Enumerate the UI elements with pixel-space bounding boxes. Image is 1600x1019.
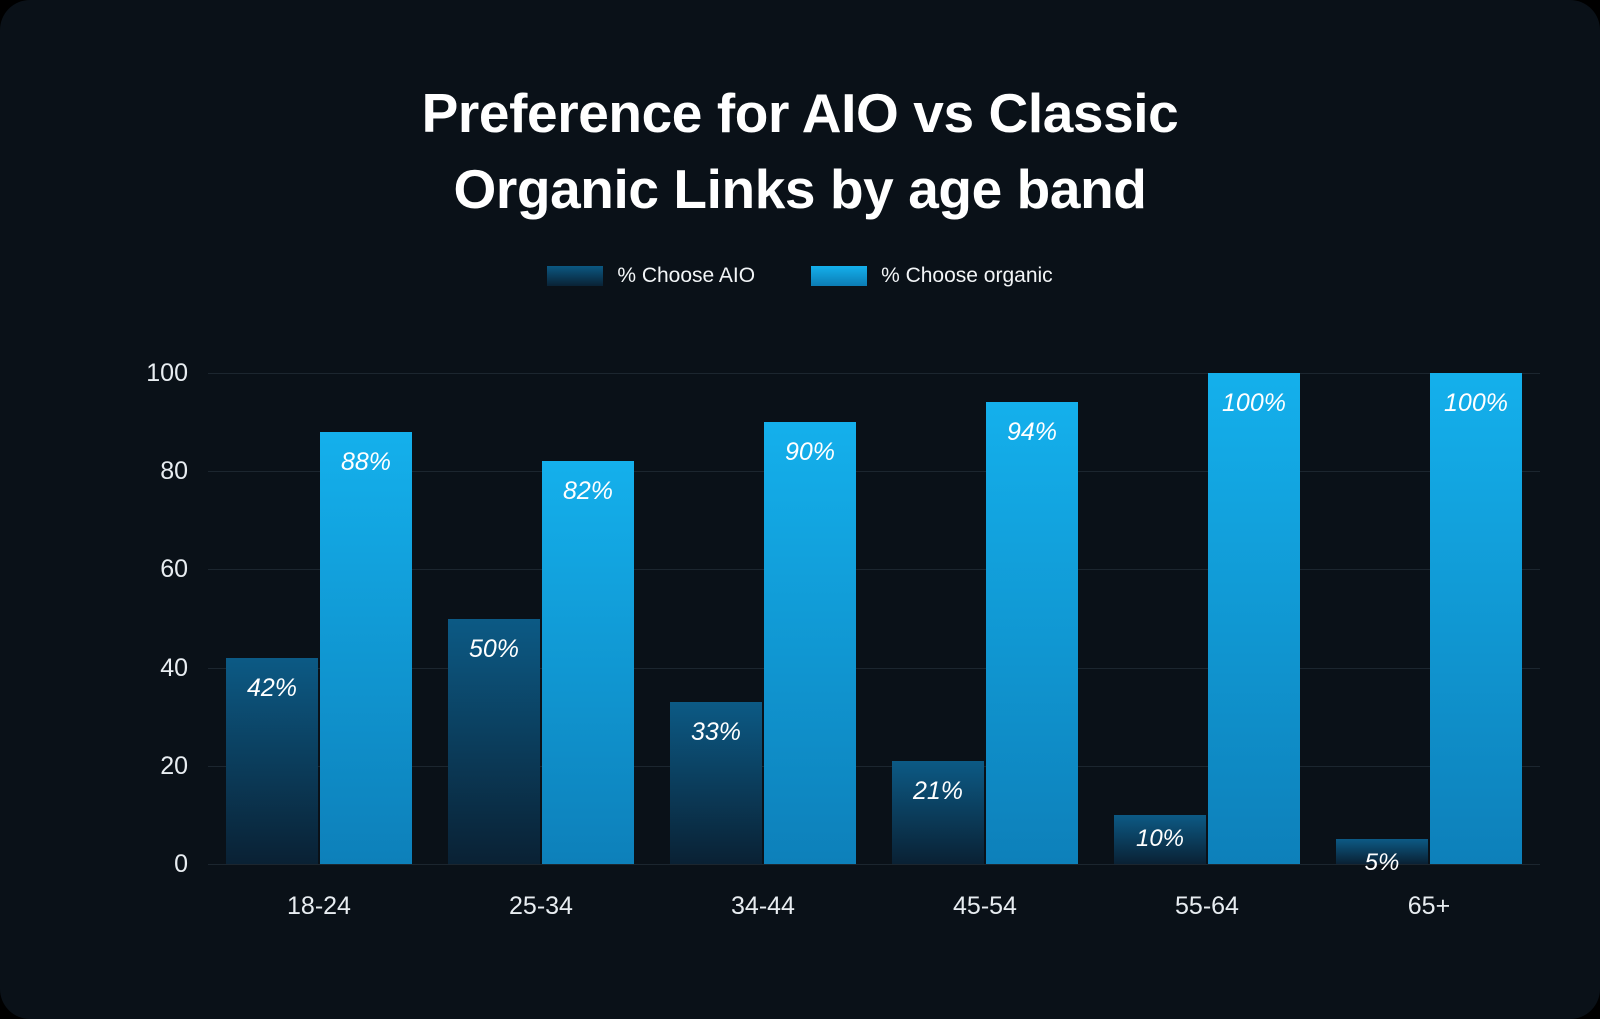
bar-aio[interactable]: 33% [670, 702, 762, 864]
bar-organic[interactable]: 88% [320, 432, 412, 864]
bar-organic[interactable]: 100% [1208, 373, 1300, 864]
chart-card: Preference for AIO vs Classic Organic Li… [0, 0, 1600, 1019]
title-line-1: Preference for AIO vs Classic [250, 76, 1350, 152]
bar-group: 33%90% [652, 373, 874, 864]
bar-value-label: 90% [764, 438, 856, 467]
bar-value-label: 5% [1336, 849, 1428, 877]
y-axis-tick-label: 40 [68, 654, 188, 683]
bar-aio[interactable]: 42% [226, 658, 318, 864]
page-title: Preference for AIO vs Classic Organic Li… [250, 76, 1350, 228]
bar-group: 10%100% [1096, 373, 1318, 864]
y-axis-tick-label: 20 [68, 752, 188, 781]
y-axis-tick-label: 80 [68, 457, 188, 486]
bar-group: 50%82% [430, 373, 652, 864]
bar-value-label: 100% [1208, 389, 1300, 418]
bar-aio[interactable]: 5% [1336, 839, 1428, 864]
bar-value-label: 82% [542, 477, 634, 506]
legend-item-organic[interactable]: % Choose organic [811, 264, 1053, 288]
legend-label-organic: % Choose organic [881, 264, 1053, 288]
x-axis-tick-label: 34-44 [652, 892, 874, 921]
x-axis-tick-label: 25-34 [430, 892, 652, 921]
bar-aio[interactable]: 21% [892, 761, 984, 864]
x-axis-tick-label: 65+ [1318, 892, 1540, 921]
bar-group: 42%88% [208, 373, 430, 864]
legend-label-aio: % Choose AIO [617, 264, 755, 288]
bar-value-label: 21% [892, 777, 984, 806]
bar-value-label: 33% [670, 718, 762, 747]
bar-value-label: 42% [226, 674, 318, 703]
x-axis-tick-label: 18-24 [208, 892, 430, 921]
chart-legend: % Choose AIO % Choose organic [0, 264, 1600, 288]
x-axis-tick-labels: 18-2425-3434-4445-5455-6465+ [208, 892, 1540, 921]
bar-group: 5%100% [1318, 373, 1540, 864]
bar-organic[interactable]: 100% [1430, 373, 1522, 864]
bar-organic[interactable]: 90% [764, 422, 856, 864]
bar-aio[interactable]: 10% [1114, 815, 1206, 864]
y-axis-tick-label: 100 [68, 359, 188, 388]
bar-value-label: 100% [1430, 389, 1522, 418]
y-axis-tick-label: 0 [68, 850, 188, 879]
bar-group: 21%94% [874, 373, 1096, 864]
bar-aio[interactable]: 50% [448, 619, 540, 865]
bar-value-label: 10% [1114, 825, 1206, 853]
legend-item-aio[interactable]: % Choose AIO [547, 264, 755, 288]
x-axis-tick-label: 55-64 [1096, 892, 1318, 921]
legend-swatch-aio-icon [547, 266, 603, 286]
bar-value-label: 88% [320, 448, 412, 477]
plot-area: 020406080100 42%88%50%82%33%90%21%94%10%… [208, 373, 1540, 864]
title-line-2: Organic Links by age band [250, 152, 1350, 228]
bar-value-label: 94% [986, 418, 1078, 447]
bar-organic[interactable]: 94% [986, 402, 1078, 864]
bar-groups: 42%88%50%82%33%90%21%94%10%100%5%100% [208, 373, 1540, 864]
x-axis-tick-label: 45-54 [874, 892, 1096, 921]
legend-swatch-organic-icon [811, 266, 867, 286]
bar-organic[interactable]: 82% [542, 461, 634, 864]
bar-value-label: 50% [448, 635, 540, 664]
y-axis-tick-label: 60 [68, 555, 188, 584]
